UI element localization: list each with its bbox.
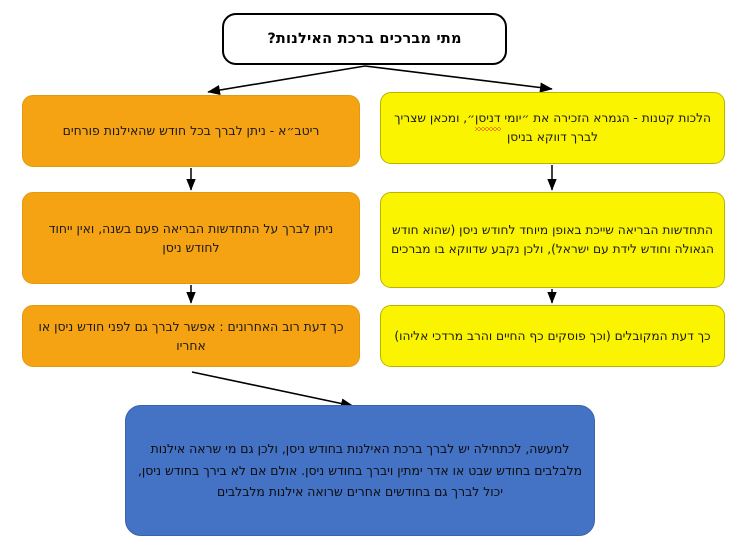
node-left-3[interactable]: כך דעת רוב האחרונים : אפשר לברך גם לפני …	[22, 305, 360, 367]
edge-left-3-to-conclusion	[192, 372, 353, 406]
node-left-1-text: ריטב״א - ניתן לברך בכל חודש שהאילנות פור…	[23, 121, 359, 140]
node-conclusion-text: למעשה, לכתחילה יש לברך ברכת האילנות בחוד…	[126, 438, 594, 503]
node-left-2[interactable]: ניתן לברך על התחדשות הבריאה פעם בשנה, וא…	[22, 192, 360, 284]
spellcheck-underlined-word: דניסן	[475, 109, 501, 128]
node-left-3-text: כך דעת רוב האחרונים : אפשר לברך גם לפני …	[23, 317, 359, 355]
question-node[interactable]: מתי מברכים ברכת האילנות?	[222, 13, 507, 65]
node-right-3[interactable]: כך דעת המקובלים (וכך פוסקים כף החיים והר…	[380, 305, 725, 367]
node-left-2-text: ניתן לברך על התחדשות הבריאה פעם בשנה, וא…	[23, 219, 359, 257]
node-conclusion[interactable]: למעשה, לכתחילה יש לברך ברכת האילנות בחוד…	[125, 405, 595, 536]
edge-question-to-left-1	[208, 66, 365, 92]
node-right-1[interactable]: הלכות קטנות - הגמרא הזכירה את ״יומי דניס…	[380, 92, 725, 164]
node-right-3-text: כך דעת המקובלים (וכך פוסקים כף החיים והר…	[381, 327, 724, 346]
question-node-text: מתי מברכים ברכת האילנות?	[224, 28, 505, 50]
node-right-1-text: הלכות קטנות - הגמרא הזכירה את ״יומי דניס…	[381, 109, 724, 147]
node-right-2-text: התחדשות הבריאה שייכת באופן מיוחד לחודש נ…	[381, 221, 724, 259]
node-right-1-text-before: הלכות קטנות - הגמרא הזכירה את ״יומי	[501, 111, 711, 125]
node-right-2[interactable]: התחדשות הבריאה שייכת באופן מיוחד לחודש נ…	[380, 192, 725, 288]
node-left-1[interactable]: ריטב״א - ניתן לברך בכל חודש שהאילנות פור…	[22, 95, 360, 167]
flowchart-canvas: מתי מברכים ברכת האילנות? ריטב״א - ניתן ל…	[0, 0, 742, 544]
edge-question-to-right-1	[365, 66, 552, 89]
